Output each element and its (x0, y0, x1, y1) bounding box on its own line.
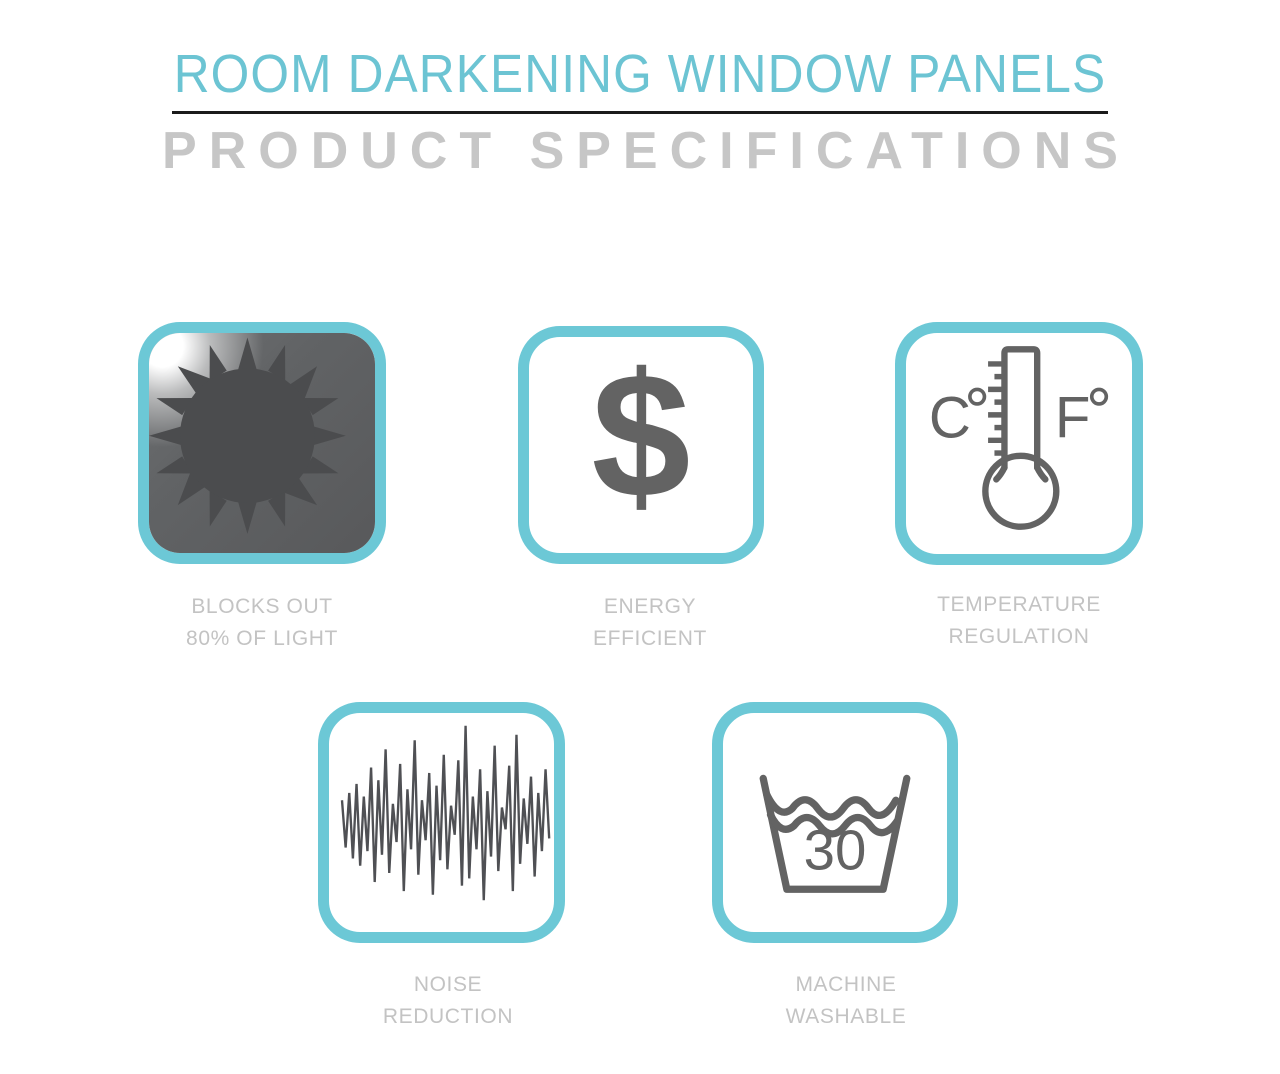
caption-line-2: REGULATION (885, 621, 1153, 653)
caption-line-1: BLOCKS OUT (128, 591, 396, 623)
title-divider (172, 111, 1108, 114)
dollar-sign-icon: $ (529, 337, 753, 553)
icon-box-machine-washable[interactable]: 30 (712, 702, 958, 943)
fahrenheit-degree-icon (1092, 389, 1107, 404)
celsius-degree-icon (970, 389, 985, 404)
icon-box-blocks-out-light[interactable] (138, 322, 386, 564)
caption-line-1: TEMPERATURE (885, 589, 1153, 621)
caption-line-1: ENERGY (516, 591, 784, 623)
caption-energy-efficient: ENERGY EFFICIENT (516, 591, 784, 655)
wash-tub-icon: 30 (723, 713, 947, 932)
caption-line-2: 80% OF LIGHT (128, 623, 396, 655)
svg-text:$: $ (592, 337, 691, 535)
caption-line-1: NOISE (314, 969, 582, 1001)
page-subtitle: PRODUCT SPECIFICATIONS (0, 119, 1280, 183)
page-title: ROOM DARKENING WINDOW PANELS (51, 44, 1229, 104)
celsius-label: C (929, 386, 971, 451)
thermometer-icon: C F (906, 333, 1132, 554)
icon-box-energy-efficient[interactable]: $ (518, 326, 764, 564)
sound-waveform-icon (329, 713, 554, 932)
caption-temperature-regulation: TEMPERATURE REGULATION (885, 589, 1153, 653)
caption-machine-washable: MACHINE WASHABLE (712, 969, 980, 1033)
caption-line-1: MACHINE (712, 969, 980, 1001)
caption-line-2: EFFICIENT (516, 623, 784, 655)
fahrenheit-label: F (1055, 386, 1091, 451)
wash-temperature-label: 30 (804, 818, 867, 881)
caption-blocks-out-light: BLOCKS OUT 80% OF LIGHT (128, 591, 396, 655)
caption-noise-reduction: NOISE REDUCTION (314, 969, 582, 1033)
icon-box-noise-reduction[interactable] (318, 702, 565, 943)
sun-blocked-icon (149, 333, 375, 553)
caption-line-2: REDUCTION (314, 1001, 582, 1033)
icon-box-temperature-regulation[interactable]: C F (895, 322, 1143, 565)
caption-line-2: WASHABLE (712, 1001, 980, 1033)
